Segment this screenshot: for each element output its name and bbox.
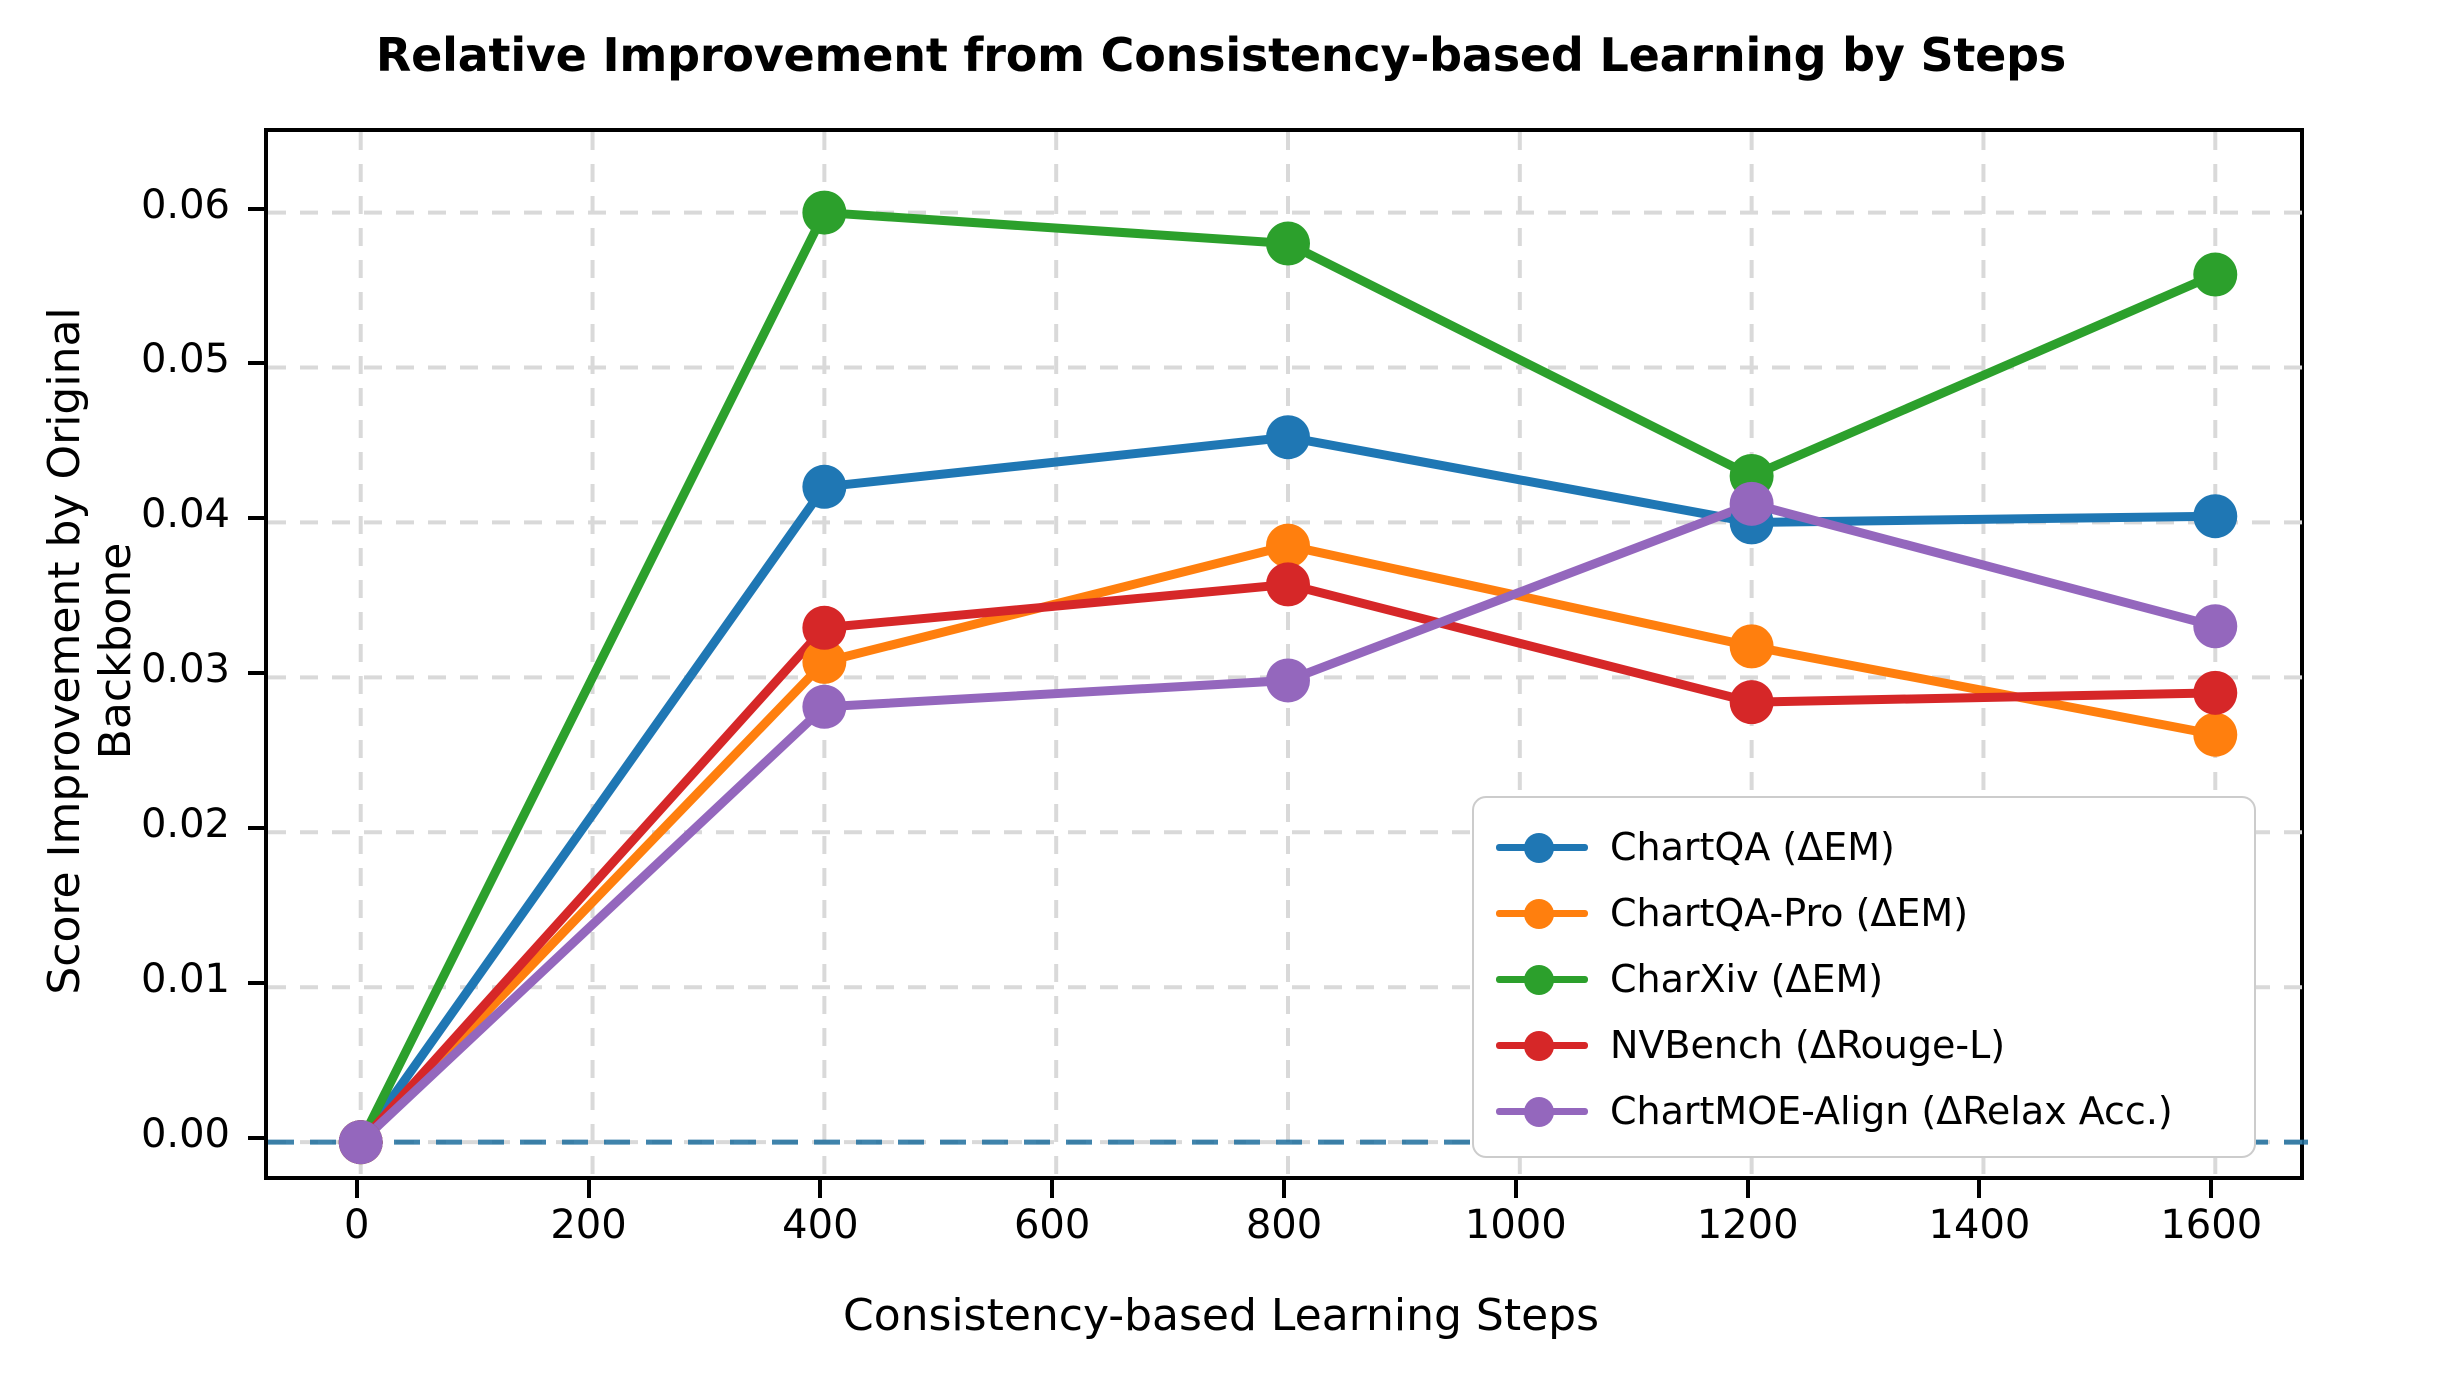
data-point bbox=[1730, 482, 1774, 526]
y-tick-label: 0.02 bbox=[40, 801, 230, 847]
data-point bbox=[1266, 524, 1310, 568]
data-point bbox=[802, 606, 846, 650]
x-tick-label: 1200 bbox=[1648, 1202, 1848, 1248]
data-point bbox=[2193, 604, 2237, 648]
data-point bbox=[339, 1120, 383, 1164]
x-tick-label: 400 bbox=[720, 1202, 920, 1248]
x-tick-label: 1400 bbox=[1879, 1202, 2079, 1248]
chart-title: Relative Improvement from Consistency-ba… bbox=[0, 28, 2442, 82]
data-point bbox=[802, 685, 846, 729]
data-point bbox=[1730, 624, 1774, 668]
legend-label: ChartQA (ΔEM) bbox=[1610, 825, 1895, 869]
legend-marker-icon bbox=[1496, 1091, 1588, 1131]
data-point bbox=[1266, 658, 1310, 702]
x-tick-label: 1600 bbox=[2111, 1202, 2311, 1248]
x-tick-label: 1000 bbox=[1416, 1202, 1616, 1248]
legend-label: CharXiv (ΔEM) bbox=[1610, 957, 1883, 1001]
legend-dot bbox=[1524, 1097, 1554, 1127]
data-point bbox=[1266, 562, 1310, 606]
data-point bbox=[2193, 494, 2237, 538]
chart-figure: Relative Improvement from Consistency-ba… bbox=[0, 0, 2442, 1396]
legend-label: ChartQA-Pro (ΔEM) bbox=[1610, 891, 1968, 935]
y-tick-label: 0.01 bbox=[40, 956, 230, 1002]
legend-dot bbox=[1524, 899, 1554, 929]
y-tick-label: 0.05 bbox=[40, 336, 230, 382]
data-point bbox=[2193, 713, 2237, 757]
y-tick-label: 0.00 bbox=[40, 1111, 230, 1157]
legend-dot bbox=[1524, 833, 1554, 863]
y-tick-label: 0.03 bbox=[40, 646, 230, 692]
legend-marker-icon bbox=[1496, 893, 1588, 933]
legend-item[interactable]: ChartMOE-Align (ΔRelax Acc.) bbox=[1474, 1078, 2254, 1144]
data-point bbox=[1266, 415, 1310, 459]
x-tick-label: 200 bbox=[489, 1202, 689, 1248]
data-point bbox=[802, 191, 846, 235]
legend-dot bbox=[1524, 965, 1554, 995]
data-point bbox=[1730, 680, 1774, 724]
legend-dot bbox=[1524, 1031, 1554, 1061]
x-tick-label: 800 bbox=[1184, 1202, 1384, 1248]
x-tick-label: 0 bbox=[257, 1202, 457, 1248]
data-point bbox=[1266, 222, 1310, 266]
y-tick-label: 0.04 bbox=[40, 491, 230, 537]
data-point bbox=[2193, 253, 2237, 297]
legend-marker-icon bbox=[1496, 1025, 1588, 1065]
legend-item[interactable]: NVBench (ΔRouge-L) bbox=[1474, 1012, 2254, 1078]
legend-item[interactable]: ChartQA-Pro (ΔEM) bbox=[1474, 880, 2254, 946]
y-tick-label: 0.06 bbox=[40, 182, 230, 228]
data-point bbox=[2193, 671, 2237, 715]
x-axis-label: Consistency-based Learning Steps bbox=[0, 1290, 2442, 1341]
legend-marker-icon bbox=[1496, 959, 1588, 999]
legend-label: NVBench (ΔRouge-L) bbox=[1610, 1023, 2005, 1067]
legend-item[interactable]: ChartQA (ΔEM) bbox=[1474, 814, 2254, 880]
legend-label: ChartMOE-Align (ΔRelax Acc.) bbox=[1610, 1089, 2173, 1133]
data-point bbox=[802, 465, 846, 509]
x-tick-label: 600 bbox=[952, 1202, 1152, 1248]
chart-legend[interactable]: ChartQA (ΔEM)ChartQA-Pro (ΔEM)CharXiv (Δ… bbox=[1472, 796, 2256, 1158]
legend-marker-icon bbox=[1496, 827, 1588, 867]
legend-item[interactable]: CharXiv (ΔEM) bbox=[1474, 946, 2254, 1012]
